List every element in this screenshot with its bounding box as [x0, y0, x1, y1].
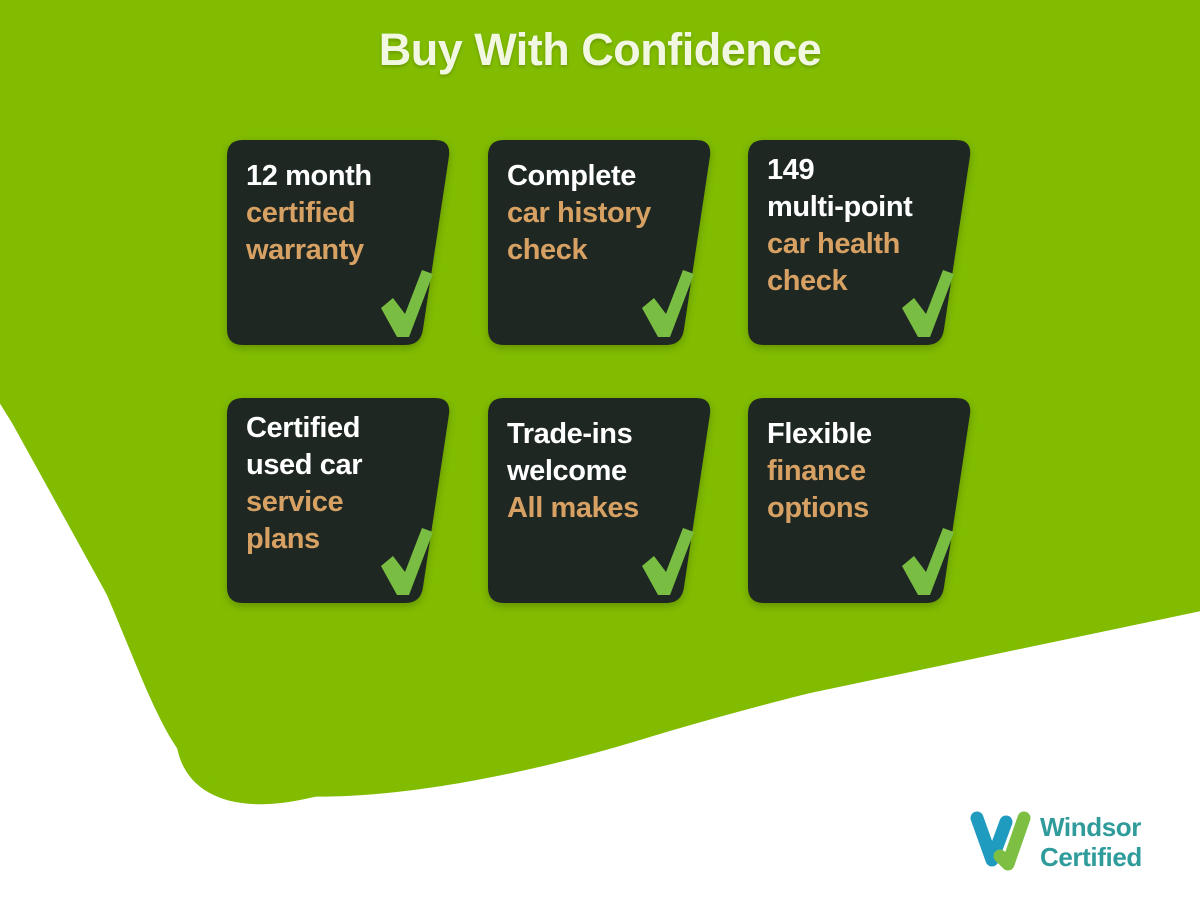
card-line: check	[507, 232, 697, 269]
feature-card-trade-ins[interactable]: Trade-ins welcome All makes	[488, 398, 712, 603]
card-line: warranty	[246, 232, 436, 269]
feature-card-car-history-check[interactable]: Complete car history check	[488, 140, 712, 345]
card-line: finance	[767, 453, 957, 490]
card-text: Certified used car service plans	[246, 410, 436, 558]
card-line: 149	[767, 152, 957, 189]
card-text: Trade-ins welcome All makes	[507, 416, 697, 527]
card-line: plans	[246, 521, 436, 558]
logo-line-windsor: Windsor	[1040, 812, 1168, 842]
card-line: All makes	[507, 490, 697, 527]
card-line: car history	[507, 195, 697, 232]
feature-card-car-health-check[interactable]: 149 multi-point car health check	[748, 140, 972, 345]
feature-card-service-plans[interactable]: Certified used car service plans	[227, 398, 451, 603]
logo-wordmark: Windsor Certified	[1040, 812, 1168, 872]
card-line: service	[246, 484, 436, 521]
card-text: 149 multi-point car health check	[767, 152, 957, 300]
feature-card-grid: 12 month certified warranty Complete car…	[227, 140, 977, 605]
feature-card-certified-warranty[interactable]: 12 month certified warranty	[227, 140, 451, 345]
page-title: Buy With Confidence	[0, 24, 1200, 76]
card-line: Certified	[246, 410, 436, 447]
card-line: Flexible	[767, 416, 957, 453]
card-line: used car	[246, 447, 436, 484]
card-text: Flexible finance options	[767, 416, 957, 527]
card-line: 12 month	[246, 158, 436, 195]
card-text: 12 month certified warranty	[246, 158, 436, 269]
card-line: check	[767, 263, 957, 300]
card-line: multi-point	[767, 189, 957, 226]
feature-card-finance-options[interactable]: Flexible finance options	[748, 398, 972, 603]
poster-canvas: Buy With Confidence 12 month certified w…	[0, 0, 1200, 900]
card-line: Complete	[507, 158, 697, 195]
card-line: Trade-ins	[507, 416, 697, 453]
windsor-w-icon	[968, 810, 1034, 872]
windsor-certified-logo[interactable]: Windsor Certified	[968, 806, 1168, 884]
card-line: car health	[767, 226, 957, 263]
card-text: Complete car history check	[507, 158, 697, 269]
card-line: welcome	[507, 453, 697, 490]
card-line: certified	[246, 195, 436, 232]
card-line: options	[767, 490, 957, 527]
logo-line-certified: Certified	[1040, 842, 1168, 872]
